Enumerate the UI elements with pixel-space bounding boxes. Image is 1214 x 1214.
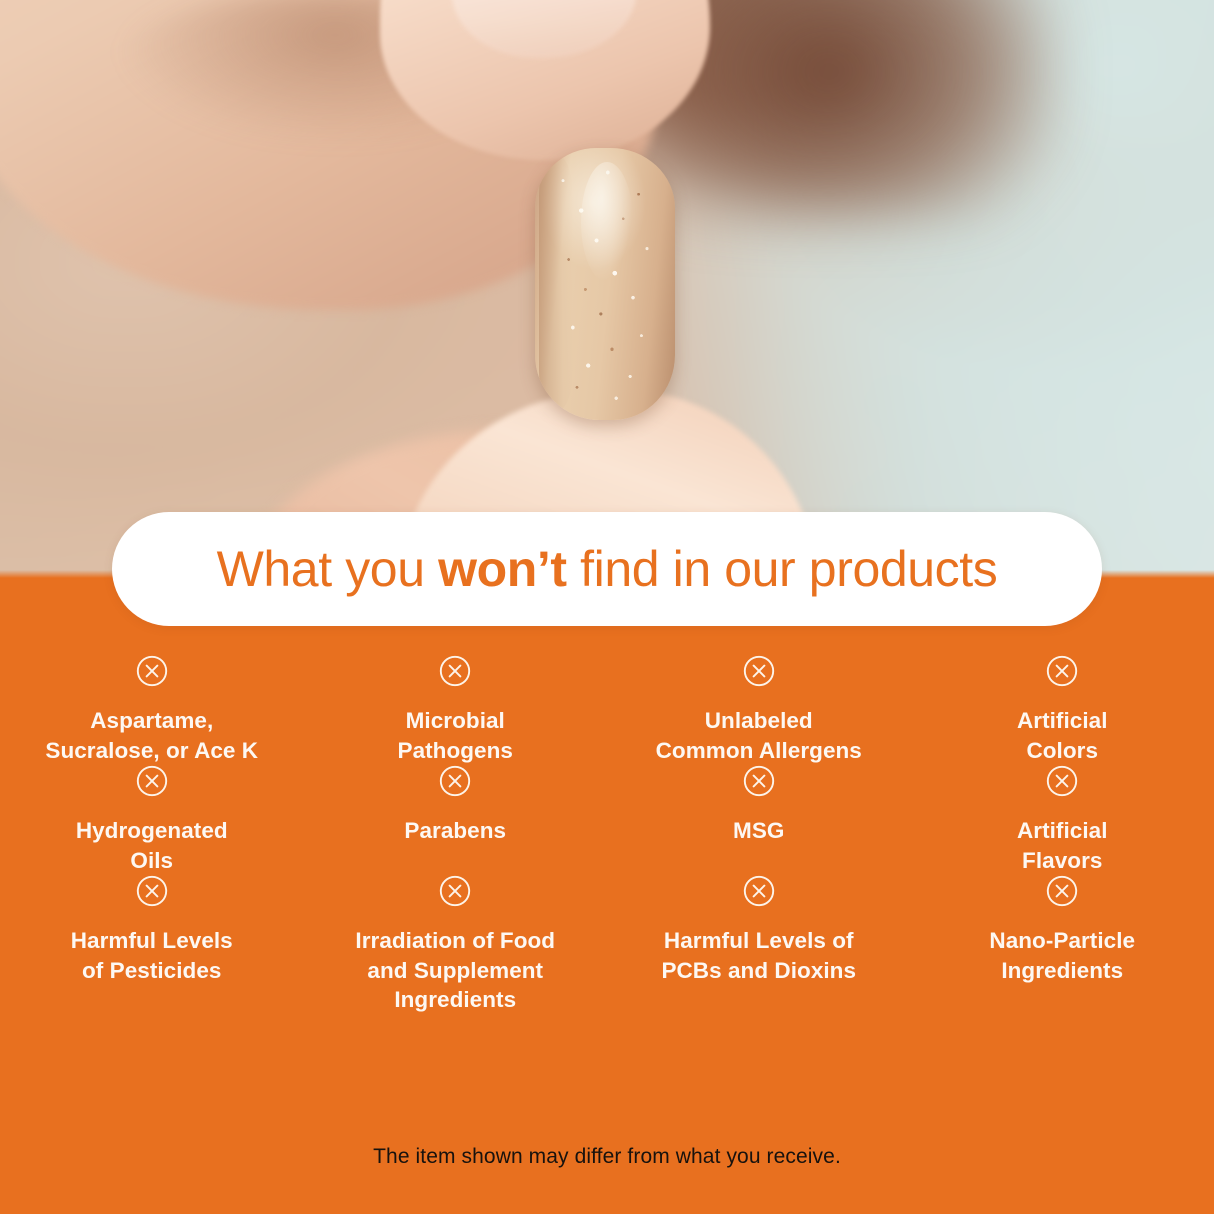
circle-x-icon [1046,655,1078,687]
claim-item: Harmful Levels of Pesticides [0,875,304,1015]
title-card: What you won’t find in our products [112,512,1102,626]
circle-x-icon [743,875,775,907]
claim-item: Artificial Colors [911,655,1214,765]
circle-x-icon [439,765,471,797]
circle-x-icon [743,765,775,797]
title-text-after: find in our products [567,541,998,597]
claim-label: Artificial Flavors [1017,816,1108,875]
claim-label: Nano-Particle Ingredients [989,926,1135,985]
tablet-highlight [581,162,633,282]
page-title: What you won’t find in our products [217,544,998,594]
claim-item: Artificial Flavors [911,765,1214,875]
title-text-before: What you [217,541,439,597]
claim-label: Microbial Pathogens [398,706,513,765]
circle-x-icon [439,655,471,687]
claim-item: Harmful Levels of PCBs and Dioxins [607,875,911,1015]
product-photo [0,0,1214,578]
claim-item: MSG [607,765,911,875]
claim-label: Irradiation of Food and Supplement Ingre… [355,926,555,1015]
circle-x-icon [439,875,471,907]
claim-label: Harmful Levels of Pesticides [71,926,233,985]
claim-label: MSG [733,816,784,846]
circle-x-icon [1046,875,1078,907]
tablet-side-edge [539,154,573,412]
title-text-emphasis: won’t [438,541,567,597]
claim-label: Unlabeled Common Allergens [656,706,862,765]
circle-x-icon [136,875,168,907]
claim-label: Hydrogenated Oils [76,816,228,875]
claim-item: Irradiation of Food and Supplement Ingre… [304,875,608,1015]
circle-x-icon [1046,765,1078,797]
supplement-tablet [535,148,675,420]
claim-item: Nano-Particle Ingredients [911,875,1214,1015]
claim-label: Aspartame, Sucralose, or Ace K [45,706,258,765]
claim-item: Aspartame, Sucralose, or Ace K [0,655,304,765]
claim-item: Microbial Pathogens [304,655,608,765]
claims-grid: Aspartame, Sucralose, or Ace KMicrobial … [0,655,1214,1015]
product-claims-poster: What you won’t find in our products Aspa… [0,0,1214,1214]
disclaimer-footnote: The item shown may differ from what you … [0,1145,1214,1169]
claim-label: Parabens [404,816,506,846]
claim-label: Artificial Colors [1017,706,1108,765]
circle-x-icon [136,765,168,797]
claim-item: Parabens [304,765,608,875]
claim-item: Unlabeled Common Allergens [607,655,911,765]
claim-label: Harmful Levels of PCBs and Dioxins [661,926,856,985]
circle-x-icon [743,655,775,687]
circle-x-icon [136,655,168,687]
claim-item: Hydrogenated Oils [0,765,304,875]
